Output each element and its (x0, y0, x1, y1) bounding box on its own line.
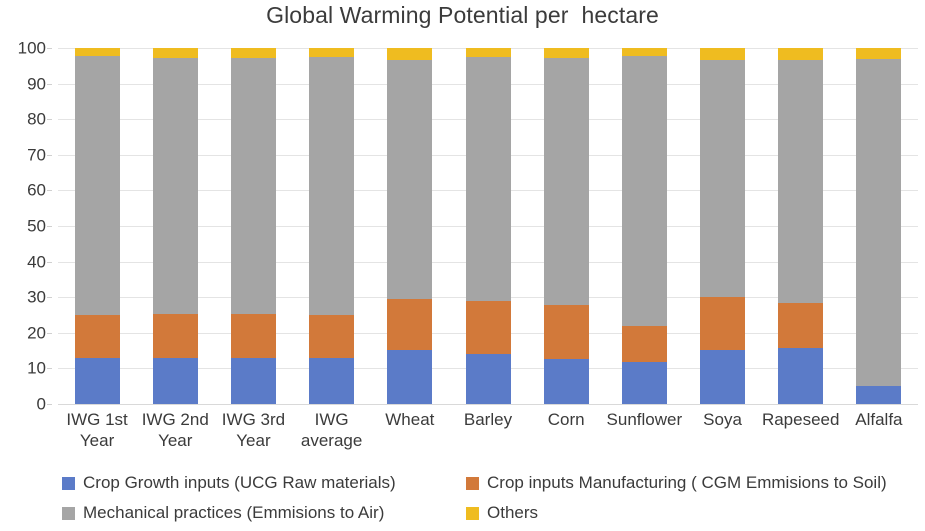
legend-label: Crop Growth inputs (UCG Raw materials) (83, 473, 396, 493)
y-axis-tick-label: 90 (27, 75, 46, 92)
bar-stack[interactable] (153, 48, 198, 404)
bar-segment[interactable] (544, 359, 589, 404)
bar-segment[interactable] (544, 305, 589, 359)
bars-layer (58, 48, 918, 404)
bar-segment[interactable] (778, 48, 823, 60)
bar-segment[interactable] (544, 48, 589, 58)
bar-segment[interactable] (622, 326, 667, 363)
x-axis-tick-label-line: Barley (449, 409, 527, 430)
bar-segment[interactable] (856, 59, 901, 387)
y-axis-tick-mark (47, 190, 52, 191)
bar-segment[interactable] (778, 303, 823, 349)
bar-segment[interactable] (309, 57, 354, 315)
bar-segment[interactable] (309, 358, 354, 404)
x-axis-tick-label: Rapeseed (762, 409, 840, 430)
bar-segment[interactable] (778, 348, 823, 404)
x-axis-tick-label-line: Sunflower (605, 409, 683, 430)
bar-segment[interactable] (700, 297, 745, 350)
y-axis-tick-mark (47, 155, 52, 156)
y-axis-tick-mark (47, 226, 52, 227)
bar-segment[interactable] (622, 56, 667, 326)
bar-segment[interactable] (544, 58, 589, 305)
bar-segment[interactable] (309, 315, 354, 359)
bar-stack[interactable] (778, 48, 823, 404)
bar-segment[interactable] (700, 60, 745, 296)
legend-swatch-icon (62, 507, 75, 520)
bar-segment[interactable] (231, 58, 276, 315)
y-axis-tick-label: 80 (27, 111, 46, 128)
legend-swatch-icon (62, 477, 75, 490)
chart-container: Global Warming Potential per hectare 010… (0, 0, 925, 531)
y-axis-tick-label: 20 (27, 324, 46, 341)
bar-segment[interactable] (700, 350, 745, 404)
x-axis-tick-label-line: Corn (527, 409, 605, 430)
legend-label: Others (487, 503, 538, 523)
bar-segment[interactable] (700, 48, 745, 60)
x-axis-tick-label-line: Year (136, 430, 214, 451)
bar-segment[interactable] (75, 48, 120, 56)
y-axis-tick-mark (47, 333, 52, 334)
legend-label: Crop inputs Manufacturing ( CGM Emmision… (487, 473, 887, 493)
y-axis-tick-label: 0 (37, 396, 46, 413)
bar-segment[interactable] (466, 48, 511, 57)
bar-stack[interactable] (309, 48, 354, 404)
y-axis-tick-label: 100 (18, 40, 46, 57)
x-axis-tick-label-line: Year (58, 430, 136, 451)
x-axis-tick-label-line: IWG 1st (58, 409, 136, 430)
bar-segment[interactable] (153, 58, 198, 315)
x-axis-tick-label: Corn (527, 409, 605, 430)
x-axis-tick-label: Wheat (371, 409, 449, 430)
bar-segment[interactable] (387, 350, 432, 404)
x-axis-tick-label-line: Alfalfa (840, 409, 918, 430)
x-axis-tick-label: Barley (449, 409, 527, 430)
y-axis-tick-mark (47, 262, 52, 263)
x-axis-tick-label: Soya (683, 409, 761, 430)
bar-segment[interactable] (622, 362, 667, 404)
legend-label: Mechanical practices (Emmisions to Air) (83, 503, 384, 523)
x-axis-tick-label-line: Wheat (371, 409, 449, 430)
y-axis-tick-mark (47, 84, 52, 85)
legend-item[interactable]: Others (466, 502, 538, 524)
y-axis-tick-mark (47, 119, 52, 120)
bar-segment[interactable] (75, 358, 120, 404)
bar-stack[interactable] (387, 48, 432, 404)
bar-segment[interactable] (75, 56, 120, 315)
bar-segment[interactable] (466, 301, 511, 354)
x-axis-tick-label: IWG 2ndYear (136, 409, 214, 451)
bar-segment[interactable] (622, 48, 667, 56)
x-axis-tick-label: Alfalfa (840, 409, 918, 430)
bar-segment[interactable] (466, 57, 511, 301)
legend-item[interactable]: Crop inputs Manufacturing ( CGM Emmision… (466, 472, 887, 494)
bar-segment[interactable] (856, 48, 901, 59)
chart-title: Global Warming Potential per hectare (0, 2, 925, 29)
bar-segment[interactable] (387, 60, 432, 299)
x-axis-tick-label: Sunflower (605, 409, 683, 430)
y-axis-tick-label: 30 (27, 289, 46, 306)
y-axis-tick-mark (47, 368, 52, 369)
x-axis-tick-label-line: Soya (683, 409, 761, 430)
bar-segment[interactable] (387, 48, 432, 60)
plot-area (58, 48, 918, 404)
legend-swatch-icon (466, 507, 479, 520)
x-axis-tick-label-line: average (293, 430, 371, 451)
x-axis-tick-label-line: IWG 2nd (136, 409, 214, 430)
y-axis-tick-mark (47, 404, 52, 405)
y-axis-tick-label: 60 (27, 182, 46, 199)
x-axis-tick-label-line: Rapeseed (762, 409, 840, 430)
bar-segment[interactable] (231, 314, 276, 358)
bar-stack[interactable] (856, 48, 901, 404)
bar-segment[interactable] (153, 314, 198, 358)
y-axis-tick-label: 10 (27, 360, 46, 377)
x-axis: IWG 1stYearIWG 2ndYearIWG 3rdYearIWGaver… (58, 409, 918, 461)
x-axis-tick-label-line: Year (214, 430, 292, 451)
bar-stack[interactable] (544, 48, 589, 404)
x-axis-tick-label: IWGaverage (293, 409, 371, 451)
bar-segment[interactable] (75, 315, 120, 358)
chart-legend: Crop Growth inputs (UCG Raw materials)Cr… (0, 470, 925, 528)
bar-segment[interactable] (231, 48, 276, 58)
y-axis: 0102030405060708090100 (0, 48, 46, 404)
bar-stack[interactable] (700, 48, 745, 404)
y-axis-tick-mark (47, 297, 52, 298)
y-axis-tick-mark (47, 48, 52, 49)
bar-segment[interactable] (231, 358, 276, 404)
bar-stack[interactable] (231, 48, 276, 404)
bar-stack[interactable] (466, 48, 511, 404)
bar-stack[interactable] (622, 48, 667, 404)
legend-item[interactable]: Crop Growth inputs (UCG Raw materials) (62, 472, 396, 494)
y-axis-tick-label: 70 (27, 146, 46, 163)
bar-stack[interactable] (75, 48, 120, 404)
bar-segment[interactable] (778, 60, 823, 302)
gridline (58, 404, 918, 405)
x-axis-tick-label-line: IWG (293, 409, 371, 430)
bar-segment[interactable] (387, 299, 432, 350)
legend-swatch-icon (466, 477, 479, 490)
bar-segment[interactable] (153, 358, 198, 404)
bar-segment[interactable] (309, 48, 354, 57)
x-axis-tick-label: IWG 3rdYear (214, 409, 292, 451)
y-axis-tick-label: 40 (27, 253, 46, 270)
x-axis-tick-label-line: IWG 3rd (214, 409, 292, 430)
y-axis-tick-label: 50 (27, 218, 46, 235)
bar-segment[interactable] (466, 354, 511, 404)
bar-segment[interactable] (153, 48, 198, 58)
x-axis-tick-label: IWG 1stYear (58, 409, 136, 451)
bar-segment[interactable] (856, 386, 901, 404)
legend-item[interactable]: Mechanical practices (Emmisions to Air) (62, 502, 384, 524)
